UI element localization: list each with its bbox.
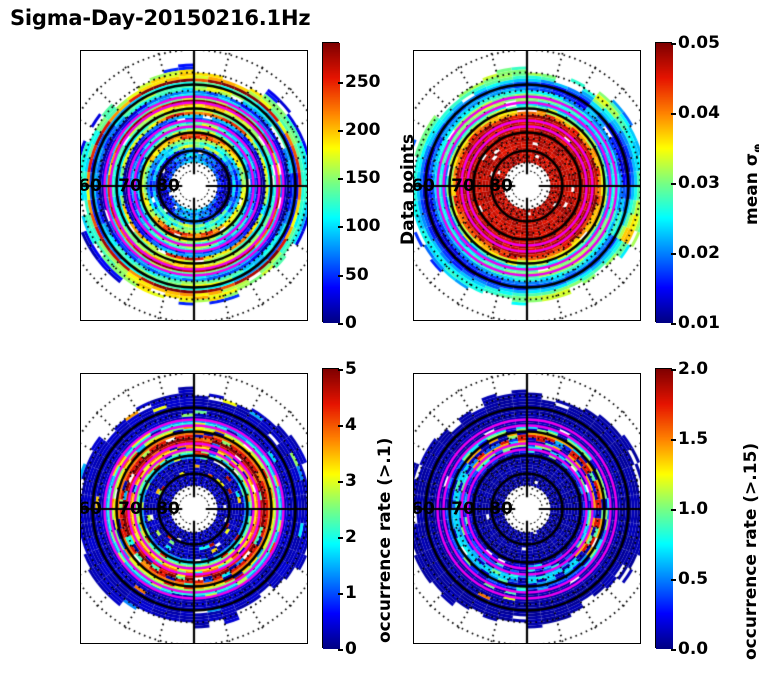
- colorbar-tick-label: 0.03: [678, 173, 720, 193]
- colorbar-tick: [338, 649, 343, 651]
- panel-mean-sigma-phi[interactable]: 60 70 80: [413, 50, 641, 321]
- colorbar-tick-label: 5: [345, 359, 357, 379]
- colorbar-tick: [338, 593, 343, 595]
- colorbar-tick: [338, 275, 343, 277]
- colorbar-tick-label: 0.04: [678, 103, 720, 123]
- polar-plot-canvas-mean-sigma-phi: [414, 51, 641, 321]
- colorbar-label-sub-phi: φ: [750, 144, 759, 153]
- colorbar-tick: [338, 537, 343, 539]
- colorbar-tick: [338, 82, 343, 84]
- colorbar-tick: [338, 481, 343, 483]
- colorbar-tick-label: 0.5: [678, 569, 708, 589]
- colorbar-tick: [671, 183, 676, 185]
- colorbar-tick: [338, 323, 343, 325]
- colorbar-tick-label: 3: [345, 471, 357, 491]
- colorbar-gradient-occurrence-0p1: [323, 369, 340, 649]
- colorbar-tick-label: 0.0: [678, 639, 708, 659]
- colorbar-tick: [671, 253, 676, 255]
- colorbar-tick: [671, 649, 676, 651]
- panel-occurrence-rate-0p1[interactable]: 60 70 80: [80, 373, 308, 644]
- figure-root: Sigma-Day-20150216.1Hz 60 70 80 05010015…: [0, 0, 759, 674]
- colorbar-tick: [671, 43, 676, 45]
- colorbar-tick: [671, 439, 676, 441]
- colorbar-tick-label: 0.02: [678, 243, 720, 263]
- colorbar-tick: [338, 178, 343, 180]
- colorbar-mean-sigma-phi[interactable]: 0.010.020.030.040.05: [655, 42, 672, 322]
- polar-plot-canvas-data-points: [81, 51, 308, 321]
- panel-occurrence-rate-0p15[interactable]: 60 70 80: [413, 373, 641, 644]
- colorbar-tick: [338, 226, 343, 228]
- colorbar-label-text-mean-sigma: mean σ: [742, 153, 759, 225]
- colorbar-tick-label: 1.0: [678, 499, 708, 519]
- colorbar-tick-label: 4: [345, 415, 357, 435]
- colorbar-tick: [338, 130, 343, 132]
- colorbar-label-occurrence-rate-0p15: occurrence rate (>.15): [741, 443, 759, 660]
- colorbar-gradient-data-points: [323, 43, 340, 323]
- colorbar-tick: [671, 113, 676, 115]
- polar-plot-canvas-occurrence-0p15: [414, 374, 641, 644]
- colorbar-tick-label: 0.05: [678, 33, 720, 53]
- colorbar-tick-label: 0.01: [678, 313, 720, 333]
- polar-plot-canvas-occurrence-0p1: [81, 374, 308, 644]
- colorbar-tick-label: 0: [345, 313, 357, 333]
- colorbar-tick-label: 250: [345, 72, 381, 92]
- colorbar-tick-label: 1: [345, 583, 357, 603]
- colorbar-tick: [338, 369, 343, 371]
- colorbar-tick: [671, 509, 676, 511]
- colorbar-tick-label: 1.5: [678, 429, 708, 449]
- colorbar-label-occurrence-rate-0p1: occurrence rate (>.1): [375, 438, 395, 643]
- panel-data-points[interactable]: 60 70 80: [80, 50, 308, 321]
- colorbar-tick-label: 200: [345, 120, 381, 140]
- colorbar-tick-label: 150: [345, 168, 381, 188]
- colorbar-tick-label: 50: [345, 265, 369, 285]
- colorbar-occurrence-rate-0p15[interactable]: 0.00.51.01.52.0: [655, 368, 672, 648]
- colorbar-tick: [671, 579, 676, 581]
- colorbar-tick: [338, 425, 343, 427]
- colorbar-tick-label: 2: [345, 527, 357, 547]
- colorbar-tick-label: 100: [345, 216, 381, 236]
- colorbar-tick-label: 2.0: [678, 359, 708, 379]
- colorbar-tick: [671, 369, 676, 371]
- colorbar-label-mean-sigma-phi: mean σφ: [742, 144, 759, 225]
- page-title: Sigma-Day-20150216.1Hz: [10, 6, 310, 30]
- colorbar-tick: [671, 323, 676, 325]
- colorbar-tick-label: 0: [345, 639, 357, 659]
- colorbar-occurrence-rate-0p1[interactable]: 012345: [322, 368, 339, 648]
- colorbar-data-points[interactable]: 050100150200250: [322, 42, 339, 322]
